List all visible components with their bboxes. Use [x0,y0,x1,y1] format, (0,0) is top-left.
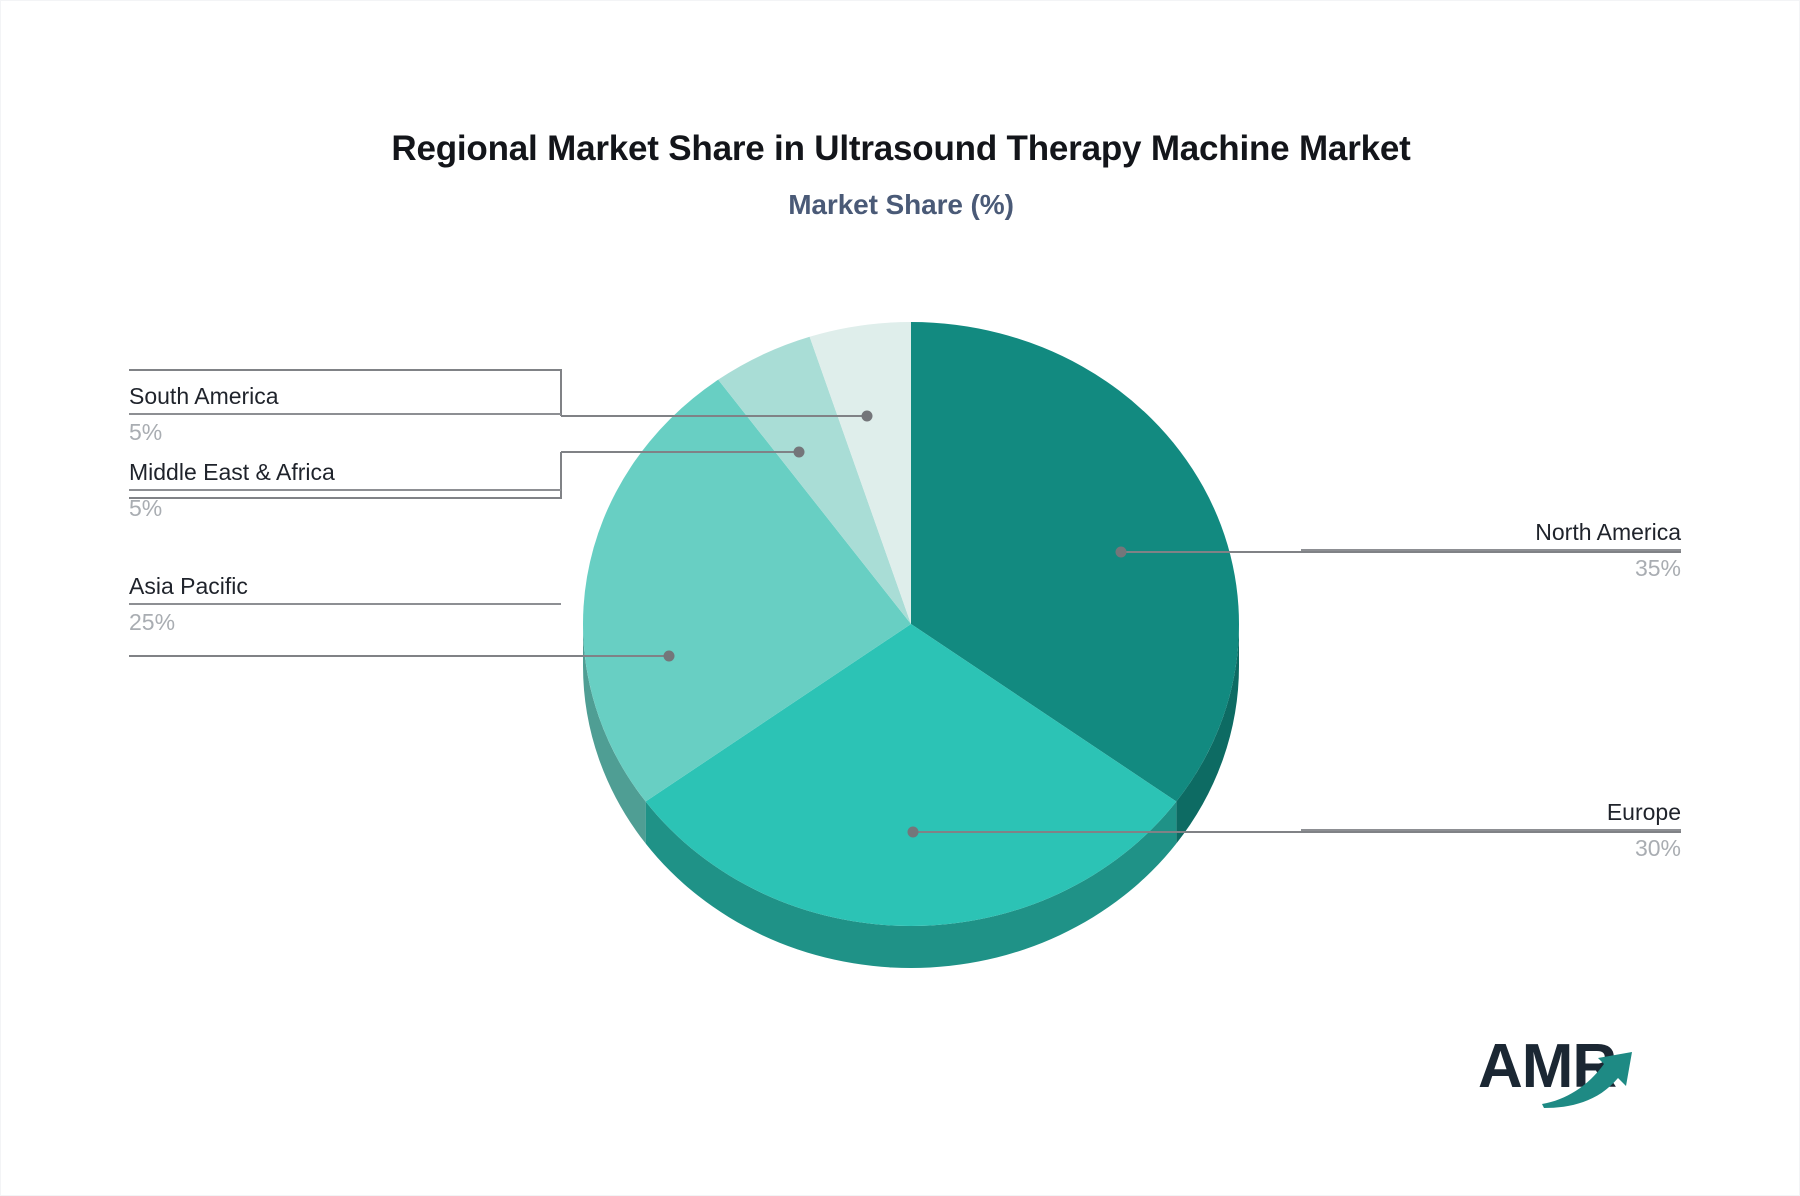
callout-value-europe: 30% [1301,831,1681,865]
callout-label-middle-east-africa: Middle East & Africa [129,457,561,487]
callout-value-middle-east-africa: 5% [129,491,561,525]
callout-label-south-america: South America [129,381,561,411]
callout-middle-east-africa: Middle East & Africa 5% [129,457,561,525]
callout-south-america: South America 5% [129,381,561,449]
callout-label-north-america: North America [1301,517,1681,547]
amr-logo: AMR [1478,1036,1653,1116]
callout-europe: Europe 30% [1301,797,1681,865]
leader-dot [1116,547,1127,558]
leader-dot [862,411,873,422]
leader-dot [664,651,675,662]
chart-canvas: Regional Market Share in Ultrasound Ther… [0,0,1800,1196]
callout-value-asia-pacific: 25% [129,605,561,639]
callout-asia-pacific: Asia Pacific 25% [129,571,561,639]
leader-dot [908,827,919,838]
callout-label-asia-pacific: Asia Pacific [129,571,561,601]
callout-north-america: North America 35% [1301,517,1681,585]
callout-value-south-america: 5% [129,415,561,449]
callout-label-europe: Europe [1301,797,1681,827]
callout-value-north-america: 35% [1301,551,1681,585]
growth-arrow-icon [1540,1046,1650,1108]
leader-dot [794,447,805,458]
